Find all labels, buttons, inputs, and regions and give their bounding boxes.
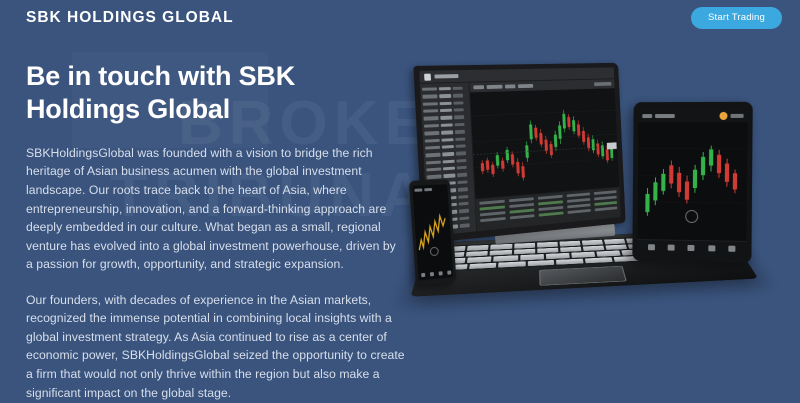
toolbar-chip [518, 84, 533, 88]
keyboard-key [467, 245, 489, 251]
page-title: Be in touch with SBK Holdings Global [26, 60, 406, 127]
quote-row [423, 100, 468, 106]
orders-cell [594, 206, 617, 211]
phone-nav-chart-icon[interactable] [429, 272, 433, 276]
quote-row [424, 114, 469, 121]
keyboard-key [469, 262, 497, 269]
laptop-trackpad [539, 266, 627, 286]
quote-bid [443, 167, 455, 171]
phone-nav-history-icon[interactable] [447, 270, 451, 274]
quote-ask [457, 180, 467, 184]
nav-settings-icon[interactable] [729, 246, 736, 252]
phone-symbol-label [424, 188, 432, 191]
quote-ask [457, 166, 467, 170]
quote-ask [453, 101, 463, 105]
candlestick-chart [470, 88, 619, 198]
keyboard-key [528, 260, 555, 266]
tablet-account-icon [719, 111, 727, 119]
keyboard-key [556, 258, 583, 264]
keyboard-key [514, 249, 535, 255]
orders-cell [480, 205, 506, 210]
keyboard-key [582, 240, 603, 245]
orders-cell [594, 201, 617, 206]
site-header: SBK HOLDINGS GLOBAL Start Trading [0, 0, 800, 36]
nav-chart-icon[interactable] [668, 245, 675, 251]
quote-row [423, 107, 468, 114]
keyboard-key [491, 244, 512, 250]
keyboard-key [514, 243, 535, 249]
orders-cell [479, 200, 505, 205]
toolbar-chip [487, 85, 503, 89]
quote-ask [454, 123, 464, 127]
quote-bid [442, 145, 454, 149]
keyboard-key [498, 261, 525, 268]
quote-bid [443, 159, 455, 163]
quote-symbol [423, 109, 438, 113]
tablet-device [632, 102, 752, 263]
hero-paragraph-1: SBKHoldingsGlobal was founded with a vis… [26, 144, 406, 274]
quote-ask [456, 144, 466, 148]
phone-menu-icon [414, 188, 422, 191]
tablet-screen [637, 109, 747, 256]
start-trading-button[interactable]: Start Trading [691, 7, 782, 29]
tablet-balance-label [731, 113, 744, 117]
keyboard-key [606, 244, 628, 250]
quote-symbol [424, 124, 439, 128]
quote-ask [455, 130, 465, 134]
quote-row [425, 150, 470, 158]
phone-nav-trade-icon[interactable] [438, 271, 442, 275]
orders-cell [567, 209, 591, 214]
orders-cell [567, 203, 591, 208]
quote-bid [441, 123, 453, 127]
device-showcase-image [400, 40, 800, 340]
quote-bid [442, 152, 454, 156]
quote-symbol [424, 131, 439, 135]
hero-content: Be in touch with SBK Holdings Global SBK… [26, 60, 406, 402]
quote-symbol [422, 87, 437, 91]
landing-page: BROKER TRIBUNAL SBK HOLDINGS GLOBAL Star… [0, 0, 800, 403]
keyboard-key [571, 252, 595, 258]
orders-cell [594, 196, 617, 201]
quote-bid [441, 138, 453, 142]
tablet-symbol-label [655, 114, 675, 118]
quote-symbol [422, 95, 437, 99]
keyboard-key [520, 254, 544, 260]
quote-symbol [425, 138, 440, 142]
toolbar-chip [594, 82, 611, 86]
orders-cell [480, 211, 506, 216]
quote-row [424, 122, 469, 129]
nav-history-icon[interactable] [708, 245, 715, 251]
quote-ask [460, 223, 470, 227]
keyboard-key [537, 247, 558, 253]
quote-ask [456, 159, 466, 163]
keyboard-key [596, 250, 620, 256]
candlestick-svg [470, 88, 619, 198]
tablet-topbar [638, 109, 747, 122]
quote-ask [458, 195, 468, 199]
quote-bid [443, 174, 455, 178]
quote-ask [459, 216, 469, 220]
quote-ask [456, 151, 466, 155]
toolbar-chip [505, 84, 516, 88]
keyboard-key [604, 239, 626, 244]
phone-line-chart [413, 193, 453, 270]
quote-ask [455, 137, 465, 141]
terminal-logo-text [434, 74, 458, 78]
quote-symbol [423, 102, 438, 106]
quote-bid [439, 87, 451, 91]
quote-symbol [426, 168, 441, 172]
nav-quotes-icon[interactable] [648, 244, 655, 250]
orders-cell [509, 197, 534, 202]
quote-row [424, 129, 469, 136]
keyboard-key [537, 242, 558, 248]
quote-ask [454, 108, 464, 112]
orders-cell [480, 217, 506, 222]
quote-ask [458, 187, 468, 191]
quote-ask [453, 94, 463, 98]
tablet-chart-svg [637, 122, 747, 241]
orders-cell [594, 190, 617, 195]
quote-symbol [425, 146, 440, 150]
hero-paragraph-2: Our founders, with decades of experience… [26, 291, 406, 402]
keyboard-key [560, 246, 582, 252]
tablet-menu-icon [642, 114, 652, 118]
phone-nav-quotes-icon[interactable] [421, 273, 425, 277]
quote-bid [439, 94, 451, 98]
quote-bid [440, 101, 452, 105]
orders-cell [539, 212, 563, 217]
phone-device [409, 179, 457, 286]
quote-ask [457, 173, 467, 177]
tablet-bottom-nav [637, 239, 746, 256]
orders-cell [538, 200, 562, 205]
quote-ask [454, 115, 464, 119]
keyboard-key [467, 256, 492, 262]
keyboard-key [546, 253, 570, 259]
quote-row [425, 136, 470, 143]
quote-symbol [426, 160, 441, 164]
phone-screen [412, 184, 453, 280]
terminal-chart-panel [470, 79, 621, 231]
orders-cell [566, 193, 590, 198]
quote-ask [459, 209, 469, 213]
brand-title: SBK HOLDINGS GLOBAL [26, 9, 234, 27]
tablet-candlestick-chart [637, 122, 747, 241]
orders-cell [510, 209, 535, 214]
quote-symbol [424, 116, 439, 120]
quote-ask [459, 202, 469, 206]
orders-cell [567, 198, 591, 203]
orders-cell [538, 195, 562, 200]
quote-row [425, 143, 470, 150]
toolbar-chip [473, 85, 484, 89]
keyboard-key [583, 245, 605, 251]
keyboard-key [466, 251, 488, 257]
terminal-logo-icon [424, 73, 431, 80]
keyboard-key [494, 255, 518, 261]
quote-row [422, 86, 467, 92]
orders-cell [510, 214, 535, 219]
quote-bid [441, 130, 453, 134]
quote-ask [453, 87, 463, 91]
orders-cell [509, 203, 534, 208]
phone-chart-svg [413, 193, 453, 270]
keyboard-key [585, 257, 612, 263]
orders-cell [539, 206, 563, 211]
quote-row [422, 93, 467, 99]
quote-symbol [425, 153, 440, 157]
quote-bid [440, 116, 452, 120]
nav-trade-icon[interactable] [688, 245, 695, 251]
quote-bid [440, 109, 452, 113]
keyboard-key [490, 250, 512, 256]
keyboard-key [559, 241, 580, 247]
tablet-trade-button[interactable] [685, 210, 698, 223]
